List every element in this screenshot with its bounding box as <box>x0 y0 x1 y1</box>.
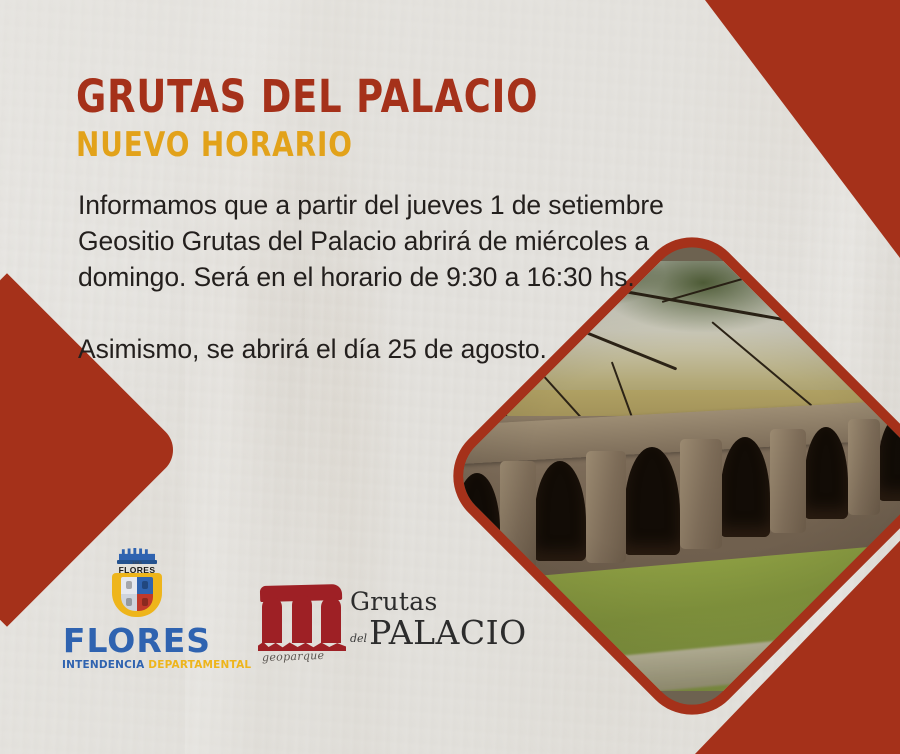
geoparque-label: geoparque <box>262 649 325 664</box>
arch-pillar <box>321 597 341 643</box>
poster-canvas: GRUTAS DEL PALACIO NUEVO HORARIO Informa… <box>0 0 900 754</box>
headline-title: GRUTAS DEL PALACIO <box>76 74 535 119</box>
grutas-del-palacio-logo: geoparque Grutas del PALACIO <box>258 583 473 668</box>
paragraph-spacer <box>78 295 718 331</box>
arch-pillar <box>262 597 282 643</box>
palacio-row: del PALACIO <box>350 616 527 649</box>
shield-quarter-1 <box>121 577 137 594</box>
flores-wordmark: FLORES <box>62 624 212 657</box>
grutas-word: Grutas <box>350 589 527 614</box>
flores-subtitle-primary: INTENDENCIA <box>62 659 148 671</box>
grutas-wordmark: Grutas del PALACIO <box>350 589 527 649</box>
flores-subtitle-accent: DEPARTAMENTAL <box>148 659 251 671</box>
shield-quarter-4 <box>137 594 153 611</box>
del-word: del <box>350 633 367 644</box>
headline-block: GRUTAS DEL PALACIO NUEVO HORARIO <box>76 74 636 162</box>
announcement-paragraph-1: Informamos que a partir del jueves 1 de … <box>78 187 718 295</box>
flores-subtitle: INTENDENCIA DEPARTAMENTAL <box>62 660 212 671</box>
arch-pillar <box>292 595 312 643</box>
grutas-arches-icon: geoparque <box>258 583 348 655</box>
shield-quarter-2 <box>137 577 153 594</box>
flores-logo: 1885 FLORES FLORES INTENDENCIA DEPARTAME… <box>62 548 212 671</box>
shield-motto: 1885 <box>108 560 166 565</box>
headline-subtitle: NUEVO HORARIO <box>76 128 535 162</box>
palacio-word: PALACIO <box>369 616 527 649</box>
shield-quarters <box>121 577 153 611</box>
flores-coat-of-arms-icon: 1885 FLORES <box>108 548 166 618</box>
shield-quarter-3 <box>121 594 137 611</box>
announcement-paragraph-2: Asimismo, se abrirá el día 25 de agosto. <box>78 331 718 367</box>
announcement-body: Informamos que a partir del jueves 1 de … <box>78 187 718 367</box>
